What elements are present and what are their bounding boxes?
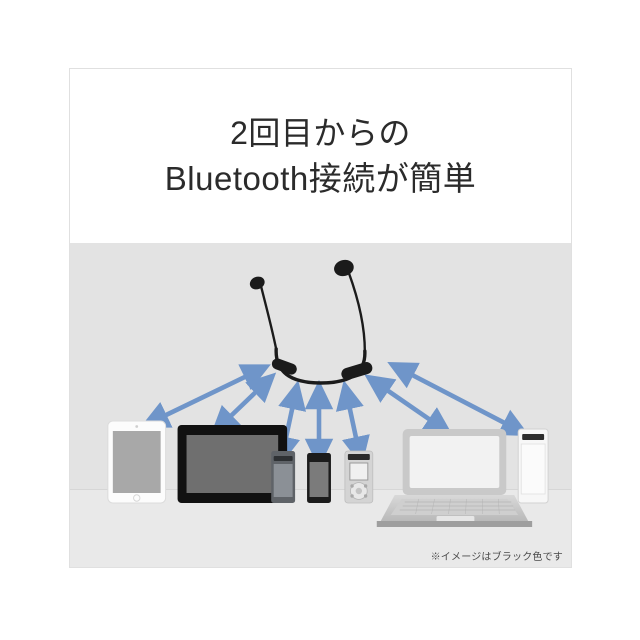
- arrow-to-music-player: [347, 395, 359, 451]
- headline-line-2: Bluetooth接続が簡単: [165, 156, 476, 202]
- feature-panel: 2回目からの Bluetooth接続が簡単: [69, 68, 572, 568]
- device-portable-music-player: [345, 451, 373, 503]
- headline-line-1: 2回目からの: [230, 110, 411, 156]
- fineprint-note: ※イメージはブラック色です: [431, 548, 563, 563]
- pairing-diagram: [70, 243, 571, 568]
- device-white-tablet: [108, 421, 166, 503]
- arrow-to-white-smartphone: [401, 369, 517, 429]
- neckband-headphones: [248, 258, 374, 383]
- device-black-tablet: [178, 425, 288, 503]
- illustration-area: 8台までの機器とペアリング ※イメージはブラック色です: [70, 243, 571, 568]
- product-feature-image: 2回目からの Bluetooth接続が簡単: [0, 0, 640, 640]
- headline-block: 2回目からの Bluetooth接続が簡単: [70, 69, 571, 243]
- device-black-smartphone: [307, 453, 331, 503]
- device-laptop-computer: [377, 429, 532, 527]
- arrow-to-black-tablet: [221, 383, 265, 425]
- arrow-to-laptop: [377, 383, 441, 427]
- arrow-to-white-tablet: [154, 371, 258, 421]
- device-white-smartphone: [518, 429, 548, 503]
- device-dark-smartphone: [271, 451, 295, 503]
